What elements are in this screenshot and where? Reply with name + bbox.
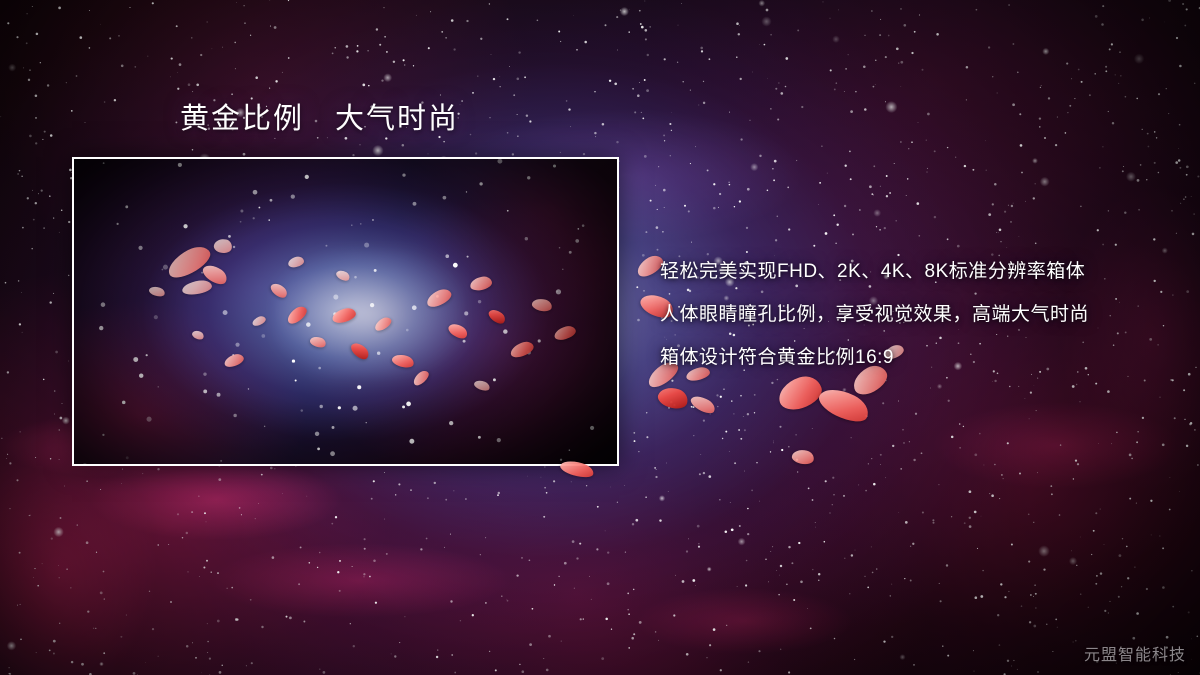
presentation-slide: 黄金比例 大气时尚 轻松完美实现FHD、2K、4K、8K标准分辨率箱体 人体眼睛… (0, 0, 1200, 675)
photo-vignette (74, 159, 617, 464)
body-copy: 轻松完美实现FHD、2K、4K、8K标准分辨率箱体 人体眼睛瞳孔比例，享受视觉效… (660, 250, 1160, 379)
body-line-1: 轻松完美实现FHD、2K、4K、8K标准分辨率箱体 (660, 250, 1160, 293)
framed-photo (72, 157, 619, 466)
watermark: 元盟智能科技 (1084, 641, 1186, 665)
body-line-3: 箱体设计符合黄金比例16:9 (660, 336, 1160, 379)
page-title: 黄金比例 大气时尚 (180, 101, 459, 137)
body-line-2: 人体眼睛瞳孔比例，享受视觉效果，高端大气时尚 (660, 293, 1160, 336)
